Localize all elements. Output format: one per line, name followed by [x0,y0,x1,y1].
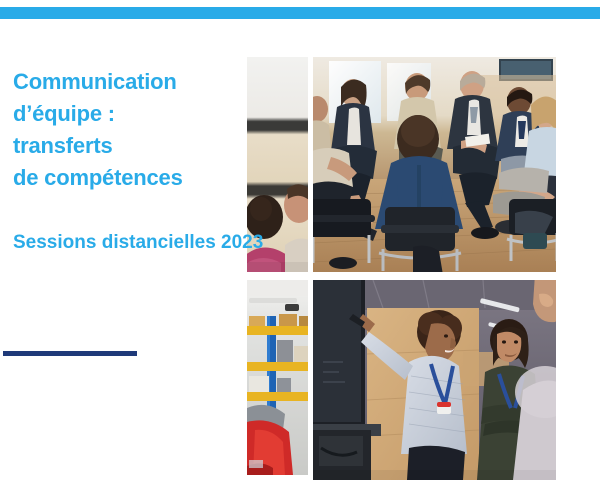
title-line-4: de compétences [13,162,253,194]
title-line-3: transferts [13,130,253,162]
title-line-2: d’équipe : [13,98,253,130]
page-title: Communication d’équipe : transferts de c… [13,66,253,194]
photo-training-demo [313,280,556,480]
subtitle-text: Sessions distancielles [13,232,216,253]
divider-rule [3,351,137,356]
subtitle-row: Sessions distancielles 2023 [13,231,353,255]
slide-canvas: Communication d’équipe : transferts de c… [0,0,600,500]
photo-warehouse [247,280,308,475]
title-line-1: Communication [13,66,253,98]
subtitle-year: 2023 [216,232,264,253]
top-accent-band [0,7,600,19]
subtitle: Sessions distancielles 2023 [13,231,353,255]
